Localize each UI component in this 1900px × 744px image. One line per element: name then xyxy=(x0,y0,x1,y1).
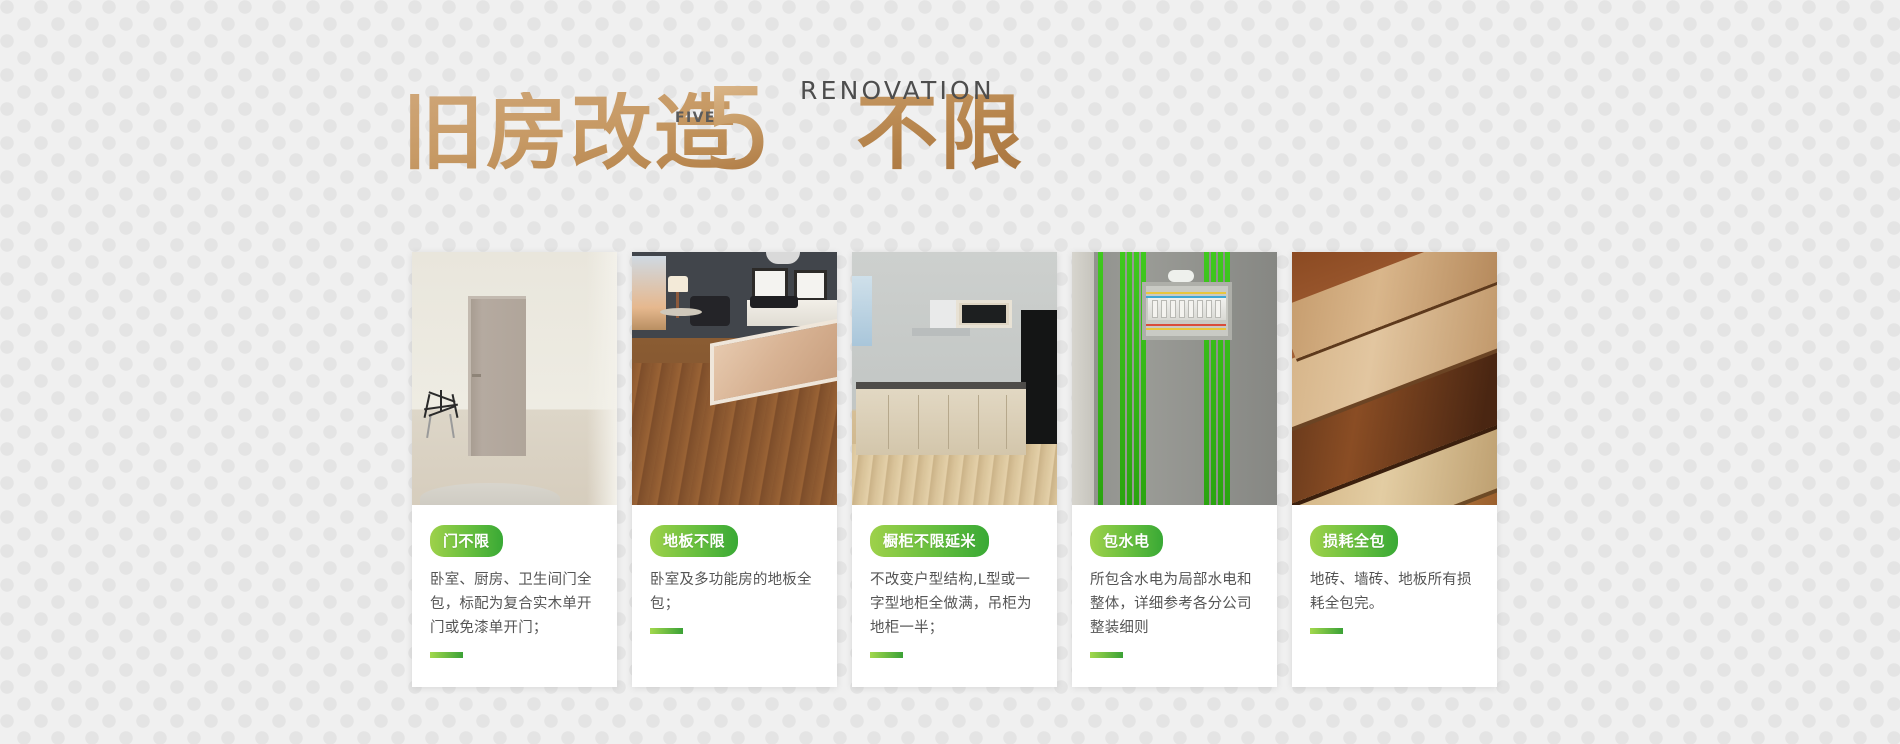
kitchen-cabinet-photo xyxy=(852,252,1057,505)
big-number-five: 5 xyxy=(702,74,773,186)
five-label: FIVE xyxy=(675,110,716,126)
feature-card[interactable]: 门不限 卧室、厨房、卫生间门全包，标配为复合实木单开门或免漆单开门； xyxy=(412,252,617,687)
page-title-main: 旧房改造 xyxy=(402,86,738,181)
card-description: 卧室、厨房、卫生间门全包，标配为复合实木单开门或免漆单开门； xyxy=(430,568,599,640)
card-badge: 橱柜不限延米 xyxy=(870,525,989,557)
accent-dash xyxy=(430,652,463,658)
feature-card[interactable]: 包水电 所包含水电为局部水电和整体，详细参考各分公司整装细则 xyxy=(1072,252,1277,687)
electrical-wiring-photo xyxy=(1072,252,1277,505)
card-badge: 地板不限 xyxy=(650,525,738,557)
card-description: 所包含水电为局部水电和整体，详细参考各分公司整装细则 xyxy=(1090,568,1259,640)
accent-dash xyxy=(870,652,903,658)
living-room-wood-floor-photo xyxy=(632,252,837,505)
card-description: 地砖、墙砖、地板所有损耗全包完。 xyxy=(1310,568,1479,616)
accent-dash xyxy=(1090,652,1123,658)
accent-dash xyxy=(1310,628,1343,634)
card-badge: 门不限 xyxy=(430,525,503,557)
feature-card[interactable]: 橱柜不限延米 不改变户型结构,L型或一字型地柜全做满，吊柜为地柜一半； xyxy=(852,252,1057,687)
page-title-block: 旧房改造不限 5 FIVE RENOVATION xyxy=(0,70,1900,200)
card-description: 卧室及多功能房的地板全包； xyxy=(650,568,819,616)
stacked-tiles-photo xyxy=(1292,252,1497,505)
accent-dash xyxy=(650,628,683,634)
door-room-photo xyxy=(412,252,617,505)
card-badge: 包水电 xyxy=(1090,525,1163,557)
feature-card[interactable]: 地板不限 卧室及多功能房的地板全包； xyxy=(632,252,837,687)
card-description: 不改变户型结构,L型或一字型地柜全做满，吊柜为地柜一半； xyxy=(870,568,1039,640)
card-badge: 损耗全包 xyxy=(1310,525,1398,557)
feature-card-list: 门不限 卧室、厨房、卫生间门全包，标配为复合实木单开门或免漆单开门； 地板不限 … xyxy=(412,252,1502,687)
renovation-label: RENOVATION xyxy=(800,76,995,105)
feature-card[interactable]: 损耗全包 地砖、墙砖、地板所有损耗全包完。 xyxy=(1292,252,1497,687)
